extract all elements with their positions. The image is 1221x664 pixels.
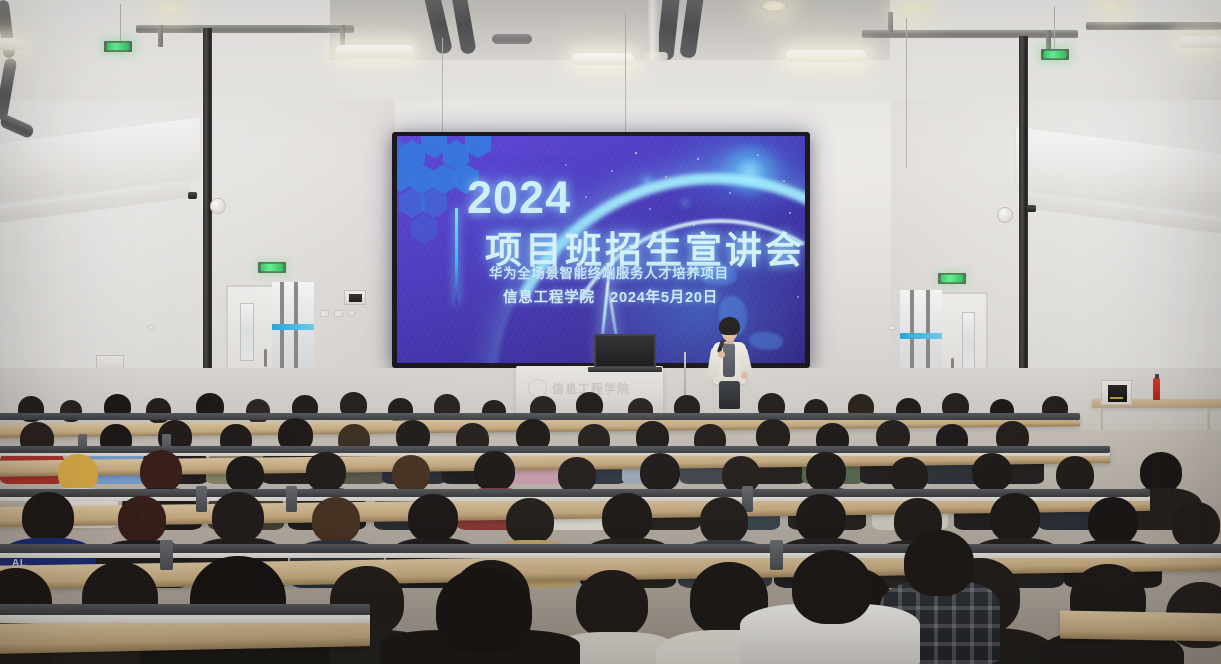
tube-light-left [336,45,414,57]
tube-light-right [786,50,866,62]
exit-sign-glow [107,43,129,50]
light-switch-right[interactable] [888,325,895,330]
ceiling-pipe-white-elbow [642,52,668,61]
ceiling-downlight-3 [898,2,926,14]
ceiling-wire-right [906,18,907,168]
exit-sign-glow [941,275,963,282]
audience-white-shirt-foreground [740,556,920,664]
door-left-glass [240,303,254,361]
ceiling-pipe-white [648,0,659,60]
wall-outlet-left-2 [334,310,343,317]
light-rail-drop-4 [1046,30,1051,50]
exit-sign-door-left [258,262,286,273]
presenter-hair [719,317,740,335]
ceiling-downlight-1 [156,2,184,14]
tube-light-far-right [1178,36,1221,48]
tube-light-far-left [0,38,24,50]
desk-lip-row-5 [0,614,370,623]
exit-sign-door-right [938,273,966,284]
light-rail-drop-3 [888,12,893,32]
light-rail-left [136,25,354,33]
light-switch-left[interactable] [148,325,154,330]
door-right-glass [962,312,975,372]
presenter-hand-left [718,351,725,358]
presenter-laptop[interactable] [594,334,656,368]
ceiling-speaker-right [997,207,1013,223]
audience-foreground-center [380,572,580,664]
exit-sign-glow [1044,51,1066,58]
fire-alarm-box-left-face [349,294,362,302]
presenter-laptop-base [588,367,662,372]
wall-outlet-left-3 [348,310,355,316]
desk-row-5b [1060,611,1221,642]
security-camera-left [188,192,197,199]
slide-year: 2024 [467,172,571,224]
ceiling-duct-plenum [492,34,532,44]
cyan-accent-bar [455,208,458,304]
slide-footer: 信息工程学院 2024年5月20日 [503,286,718,307]
ceiling-speaker-left [210,198,226,214]
ceiling-downlight-4 [1098,0,1126,12]
exit-sign-glow [261,264,283,271]
light-rail-drop-2 [340,25,345,47]
door-right-safety-band [900,333,942,339]
lecture-hall-photo: 2024 项目班招生宣讲会 华为全场景智能终端服务人才培养项目 信息工程学院 2… [0,0,1221,664]
presenter-hand-right [741,372,748,379]
light-rail-far-right [1086,22,1221,30]
exit-sign-wire-left [120,4,121,42]
seatback-row-5 [0,604,370,615]
security-camera-right [1027,205,1036,212]
door-left-safety-band [272,324,314,330]
fire-alarm-box-left[interactable] [344,290,366,305]
wall-outlet-left-1 [320,310,329,317]
slide-subtitle: 华为全场景智能终端服务人才培养项目 [489,262,729,282]
exit-sign-wire-right [1054,6,1055,50]
exit-sign-ceiling-left [104,41,132,52]
exit-sign-ceiling-right [1041,49,1069,60]
presenter-inner-top [723,343,735,377]
ceiling-downlight-2 [760,0,788,12]
light-rail-drop-1 [158,25,163,47]
door-left-handle[interactable] [264,349,267,367]
